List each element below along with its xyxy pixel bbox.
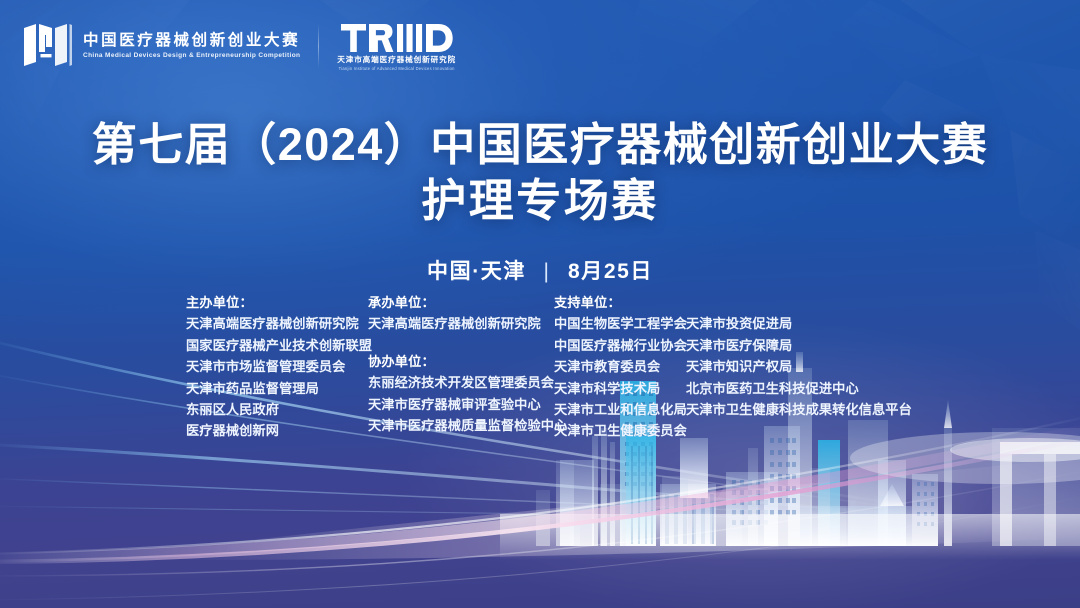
organizer-item: 天津市卫生健康科技成果转化信息平台 <box>686 399 912 420</box>
logo-divider <box>318 24 319 68</box>
event-date: 8月25日 <box>568 260 653 283</box>
organizer-group: 主办单位： 天津高端医疗器械创新研究院 国家医疗器械产业技术创新联盟 天津市市场… <box>186 292 368 442</box>
organizer-heading: 主办单位： <box>186 292 368 313</box>
header-logo-bar: 中国医疗器械创新创业大赛 China Medical Devices Desig… <box>22 22 456 71</box>
organizer-heading: 协办单位： <box>368 351 554 372</box>
main-title: 第七届（2024）中国医疗器械创新创业大赛 <box>0 118 1080 171</box>
organizer-item: 天津高端医疗器械创新研究院 <box>186 313 368 334</box>
skyline-buildings-right <box>560 426 900 546</box>
organizer-item: 天津市工业和信息化局 <box>554 399 686 420</box>
organizer-group: 协办单位： 东丽经济技术开发区管理委员会 天津市医疗器械审评查验中心 天津市医疗… <box>368 351 554 437</box>
organizer-item: 中国生物医学工程学会 <box>554 313 686 334</box>
triid-wordmark-icon <box>341 23 453 53</box>
organizer-item: 天津市医疗保障局 <box>686 335 912 356</box>
organizer-item: 天津市知识产权局 <box>686 356 912 377</box>
event-location: 中国·天津 <box>427 260 526 283</box>
skyline-base-fade <box>500 514 1080 560</box>
organizer-heading: 支持单位： <box>554 292 686 313</box>
organizer-column-host: 主办单位： 天津高端医疗器械创新研究院 国家医疗器械产业技术创新联盟 天津市市场… <box>186 292 368 442</box>
organizer-item: 天津市市场监督管理委员会 <box>186 356 368 377</box>
organizer-column-organizer: 承办单位： 天津高端医疗器械创新研究院 协办单位： 东丽经济技术开发区管理委员会… <box>368 292 554 436</box>
organizer-column-support-2: 天津市投资促进局 天津市医疗保障局 天津市知识产权局 北京市医药卫生科技促进中心… <box>686 292 912 420</box>
poster-canvas: 中国医疗器械创新创业大赛 China Medical Devices Desig… <box>0 0 1080 608</box>
organizer-item: 天津市医疗器械质量监督检验中心 <box>368 415 554 436</box>
organizer-item: 天津高端医疗器械创新研究院 <box>368 313 554 334</box>
heading-spacer <box>686 292 912 313</box>
organizer-columns: 主办单位： 天津高端医疗器械创新研究院 国家医疗器械产业技术创新联盟 天津市市场… <box>186 292 912 442</box>
organizer-item: 天津市医疗器械审评查验中心 <box>368 394 554 415</box>
open-book-emblem-icon <box>22 22 74 67</box>
triid-logo-cn: 天津市高端医疗器械创新研究院 <box>337 56 456 64</box>
title-block: 第七届（2024）中国医疗器械创新创业大赛 护理专场赛 <box>0 118 1080 230</box>
organizer-item: 天津市卫生健康委员会 <box>554 420 686 441</box>
sub-title: 护理专场赛 <box>0 173 1080 230</box>
organizer-item: 医疗器械创新网 <box>186 420 368 441</box>
organizer-group: 天津市投资促进局 天津市医疗保障局 天津市知识产权局 北京市医药卫生科技促进中心… <box>686 292 912 420</box>
organizer-item: 天津市药品监督管理局 <box>186 378 368 399</box>
organizer-item: 天津市投资促进局 <box>686 313 912 334</box>
organizer-item: 天津市科学技术局 <box>554 378 686 399</box>
organizer-group: 承办单位： 天津高端医疗器械创新研究院 <box>368 292 554 335</box>
organizer-heading: 承办单位： <box>368 292 554 313</box>
ground-haze <box>180 458 1080 560</box>
organizer-item: 中国医疗器械行业协会 <box>554 335 686 356</box>
competition-logo: 中国医疗器械创新创业大赛 China Medical Devices Desig… <box>22 22 300 67</box>
organizer-item: 东丽经济技术开发区管理委员会 <box>368 372 554 393</box>
organizer-item: 天津市教育委员会 <box>554 356 686 377</box>
organizer-column-support-1: 支持单位： 中国生物医学工程学会 中国医疗器械行业协会 天津市教育委员会 天津市… <box>554 292 686 442</box>
organizer-item: 北京市医药卫生科技促进中心 <box>686 378 912 399</box>
organizer-item: 国家医疗器械产业技术创新联盟 <box>186 335 368 356</box>
event-meta-line: 中国·天津 | 8月25日 <box>0 255 1080 285</box>
organizer-group: 支持单位： 中国生物医学工程学会 中国医疗器械行业协会 天津市教育委员会 天津市… <box>554 292 686 442</box>
meta-separator: | <box>543 260 550 284</box>
ribbon-hotspot-core <box>950 438 1080 462</box>
organizer-item: 东丽区人民政府 <box>186 399 368 420</box>
light-ribbons <box>0 414 1080 600</box>
competition-logo-cn: 中国医疗器械创新创业大赛 <box>83 33 300 49</box>
triid-logo-en: Tianjin Institute of Advanced Medical De… <box>339 67 455 71</box>
triid-institute-logo: 天津市高端医疗器械创新研究院 Tianjin Institute of Adva… <box>337 22 456 71</box>
competition-logo-en: China Medical Devices Design & Entrepren… <box>83 52 305 59</box>
